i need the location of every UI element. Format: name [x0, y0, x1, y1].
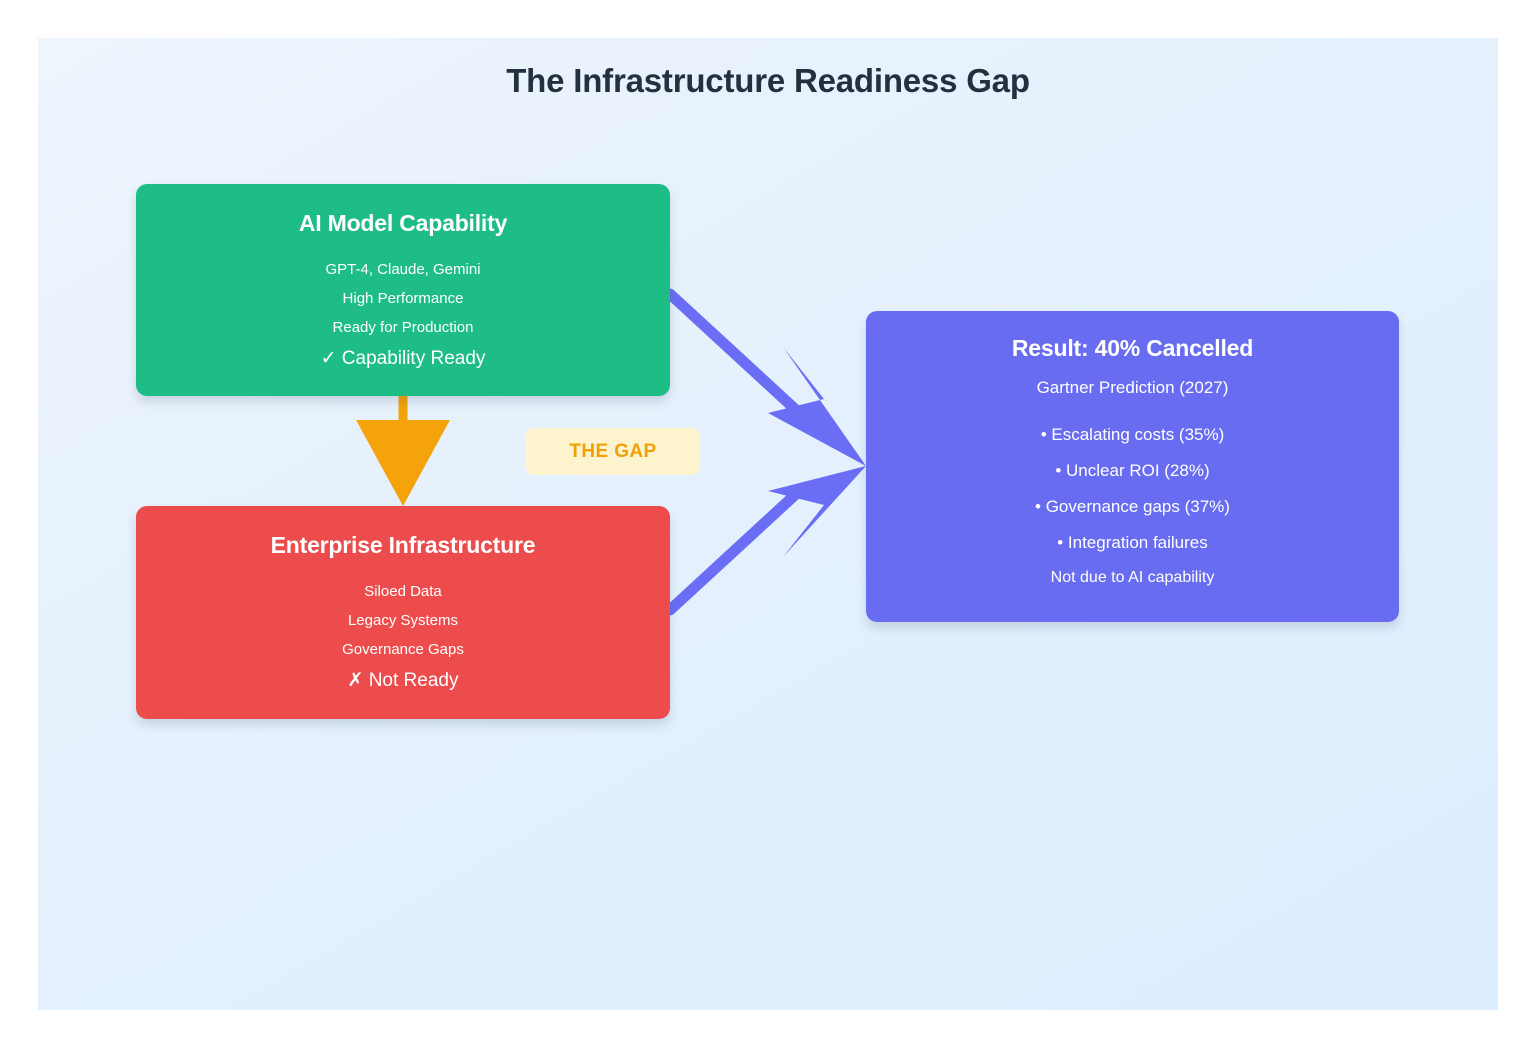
gap-badge-label: THE GAP [569, 441, 656, 463]
node-line-capability-2: Ready for Production [136, 320, 670, 335]
flow-arrow-infrastructure-to-result [670, 466, 866, 610]
node-line-infrastructure-1: Legacy Systems [136, 613, 670, 628]
node-line-capability-0: GPT-4, Claude, Gemini [136, 262, 670, 277]
node-title-result: Result: 40% Cancelled [866, 335, 1399, 362]
node-ai-model-capability[interactable]: AI Model Capability GPT-4, Claude, Gemin… [136, 184, 670, 396]
node-title-capability: AI Model Capability [136, 210, 670, 237]
result-bullet-2: • Governance gaps (37%) [866, 498, 1399, 515]
node-line-capability-1: High Performance [136, 291, 670, 306]
node-line-infrastructure-0: Siloed Data [136, 584, 670, 599]
gap-arrow [356, 396, 450, 506]
node-enterprise-infrastructure[interactable]: Enterprise Infrastructure Siloed Data Le… [136, 506, 670, 719]
node-title-infrastructure: Enterprise Infrastructure [136, 532, 670, 559]
result-footer: Not due to AI capability [866, 570, 1399, 586]
diagram-canvas: The Infrastructure Readiness Gap AI Mode… [38, 38, 1498, 1010]
node-line-infrastructure-2: Governance Gaps [136, 642, 670, 657]
result-bullet-3: • Integration failures [866, 534, 1399, 551]
result-subtitle: Gartner Prediction (2027) [866, 378, 1399, 398]
cross-mark-icon-status-infrastructure: ✗ Not Ready [136, 671, 670, 690]
result-bullet-1: • Unclear ROI (28%) [866, 462, 1399, 479]
status-badge-the-gap: THE GAP [526, 428, 700, 475]
result-bullet-0: • Escalating costs (35%) [866, 426, 1399, 443]
check-mark-icon-status-capability: ✓ Capability Ready [136, 349, 670, 368]
page-title: The Infrastructure Readiness Gap [38, 62, 1498, 100]
node-result[interactable]: Result: 40% Cancelled Gartner Prediction… [866, 311, 1399, 622]
